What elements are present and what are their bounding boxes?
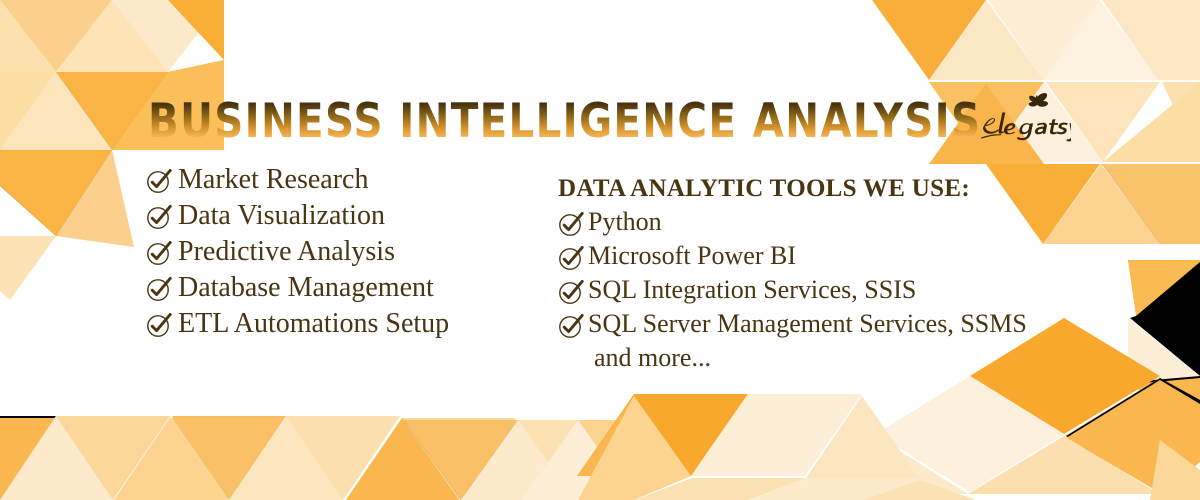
list-item-label: Microsoft Power BI (588, 240, 796, 272)
list-item: Predictive Analysis (146, 235, 449, 269)
check-circle-icon (558, 210, 582, 235)
check-circle-icon (146, 203, 172, 230)
list-item: Python (558, 206, 1027, 238)
logo-mark (975, 88, 1071, 144)
page-title: BUSINESS INTELLIGENCE ANALYSIS (148, 96, 981, 148)
butterfly-icon (1029, 93, 1048, 107)
check-circle-icon (558, 244, 582, 269)
banner-content: BUSINESS INTELLIGENCE ANALYSIS Market Re… (0, 0, 1200, 500)
list-item: SQL Integration Services, SSIS (558, 274, 1027, 306)
list-item-label: Data Visualization (178, 199, 385, 233)
list-item: Data Visualization (146, 199, 449, 233)
tools-heading: DATA ANALYTIC TOOLS WE USE: (558, 175, 1027, 203)
services-list: Market Research Data Visualization (146, 163, 449, 343)
check-circle-icon (146, 239, 172, 266)
tools-list: Python Microsoft Power BI (558, 206, 1027, 340)
banner: BUSINESS INTELLIGENCE ANALYSIS Market Re… (0, 0, 1200, 500)
logo[interactable] (975, 88, 1071, 144)
list-item-label: Database Management (178, 271, 434, 305)
list-item-label: Python (588, 206, 662, 238)
logo-wordmark (981, 113, 1071, 142)
check-circle-icon (558, 312, 582, 337)
list-item-label: SQL Integration Services, SSIS (588, 274, 916, 306)
list-item: ETL Automations Setup (146, 307, 449, 341)
list-item-label: SQL Server Management Services, SSMS (588, 308, 1027, 340)
list-item: Market Research (146, 163, 449, 197)
tools-section: DATA ANALYTIC TOOLS WE USE: Python (558, 175, 1027, 374)
list-item: SQL Server Management Services, SSMS (558, 308, 1027, 340)
list-item-label: Predictive Analysis (178, 235, 395, 269)
list-item-label: Market Research (178, 163, 368, 197)
list-item: Microsoft Power BI (558, 240, 1027, 272)
list-item: Database Management (146, 271, 449, 305)
check-circle-icon (146, 275, 172, 302)
tools-continuation: and more... (594, 342, 1027, 374)
check-circle-icon (558, 278, 582, 303)
check-circle-icon (146, 311, 172, 338)
check-circle-icon (146, 167, 172, 194)
list-item-label: ETL Automations Setup (178, 307, 449, 341)
